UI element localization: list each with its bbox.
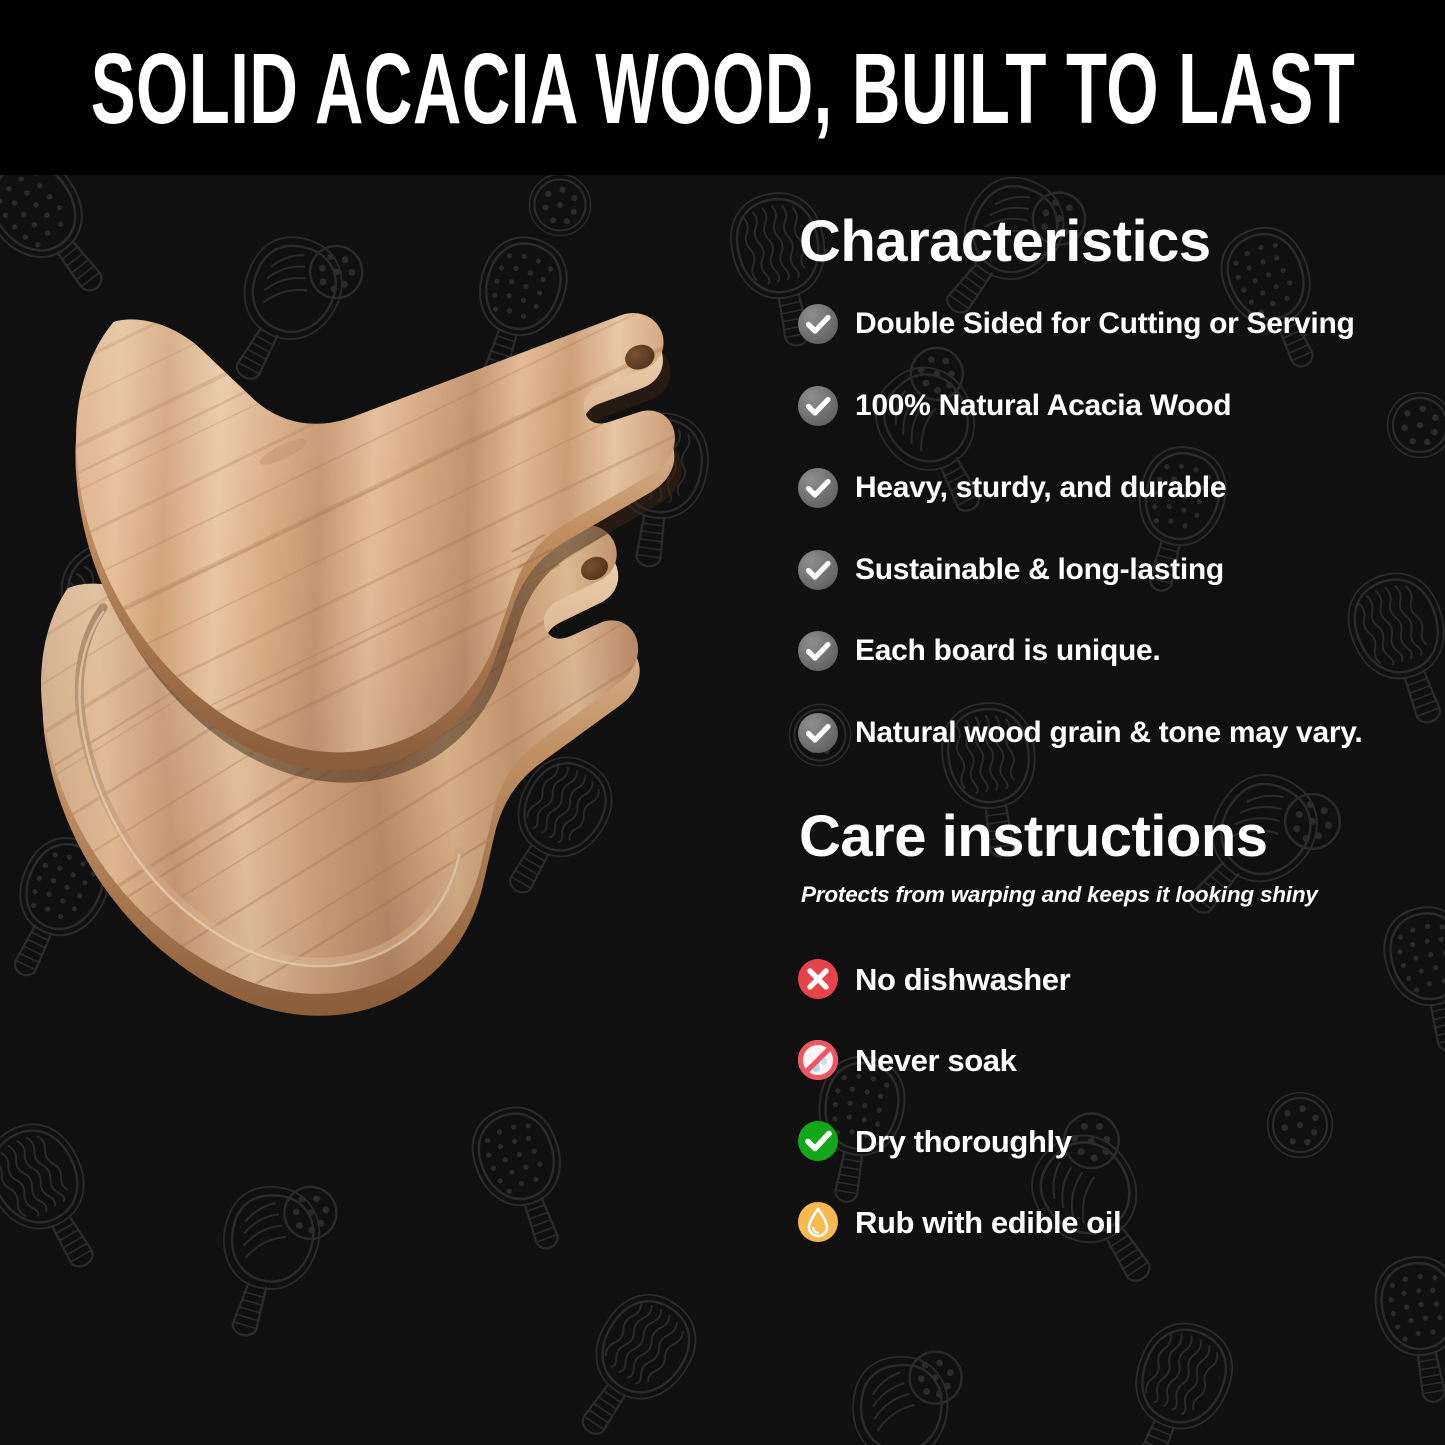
characteristic-label: Sustainable & long-lasting [855,555,1224,585]
infographic-canvas: SOLID ACACIA WOOD, BUILT TO LAST Charact… [0,0,1445,1445]
characteristic-item-0: Double Sided for Cutting or Serving [795,300,1355,348]
gray-check-icon [795,465,841,511]
characteristic-item-5: Natural wood grain & tone may vary. [795,709,1362,757]
care-instructions-heading: Care instructions [799,808,1268,866]
care-item-3: Rub with edible oil [795,1198,1121,1246]
care-label: No dishwasher [855,964,1070,995]
gray-check-icon [795,710,841,756]
characteristic-item-1: 100% Natural Acacia Wood [795,382,1231,430]
care-label: Rub with edible oil [855,1207,1121,1238]
care-item-1: Never soak [795,1036,1016,1084]
characteristic-label: Heavy, sturdy, and durable [855,473,1226,503]
care-item-0: No dishwasher [795,955,1070,1003]
product-image-acacia-boards [0,175,790,1445]
characteristic-label: Each board is unique. [855,636,1160,666]
oil-drop-icon [795,1199,841,1245]
red-x-icon [795,956,841,1002]
characteristic-label: 100% Natural Acacia Wood [855,391,1231,421]
info-column: Characteristics Double Sided for Cutting… [795,175,1435,1445]
green-check-icon [795,1118,841,1164]
gray-check-icon [795,301,841,347]
characteristic-label: Natural wood grain & tone may vary. [855,718,1362,748]
characteristics-heading: Characteristics [799,213,1211,271]
gray-check-icon [795,547,841,593]
characteristic-item-2: Heavy, sturdy, and durable [795,464,1226,512]
header-banner: SOLID ACACIA WOOD, BUILT TO LAST [0,0,1445,175]
gray-check-icon [795,383,841,429]
care-instructions-subtitle: Protects from warping and keeps it looki… [801,883,1318,908]
no-soak-icon [795,1037,841,1083]
gray-check-icon [795,628,841,674]
care-label: Dry thoroughly [855,1126,1072,1157]
characteristic-item-3: Sustainable & long-lasting [795,546,1224,594]
care-item-2: Dry thoroughly [795,1117,1072,1165]
care-label: Never soak [855,1045,1016,1076]
characteristic-item-4: Each board is unique. [795,627,1160,675]
characteristic-label: Double Sided for Cutting or Serving [855,309,1355,339]
page-title: SOLID ACACIA WOOD, BUILT TO LAST [90,39,1354,139]
